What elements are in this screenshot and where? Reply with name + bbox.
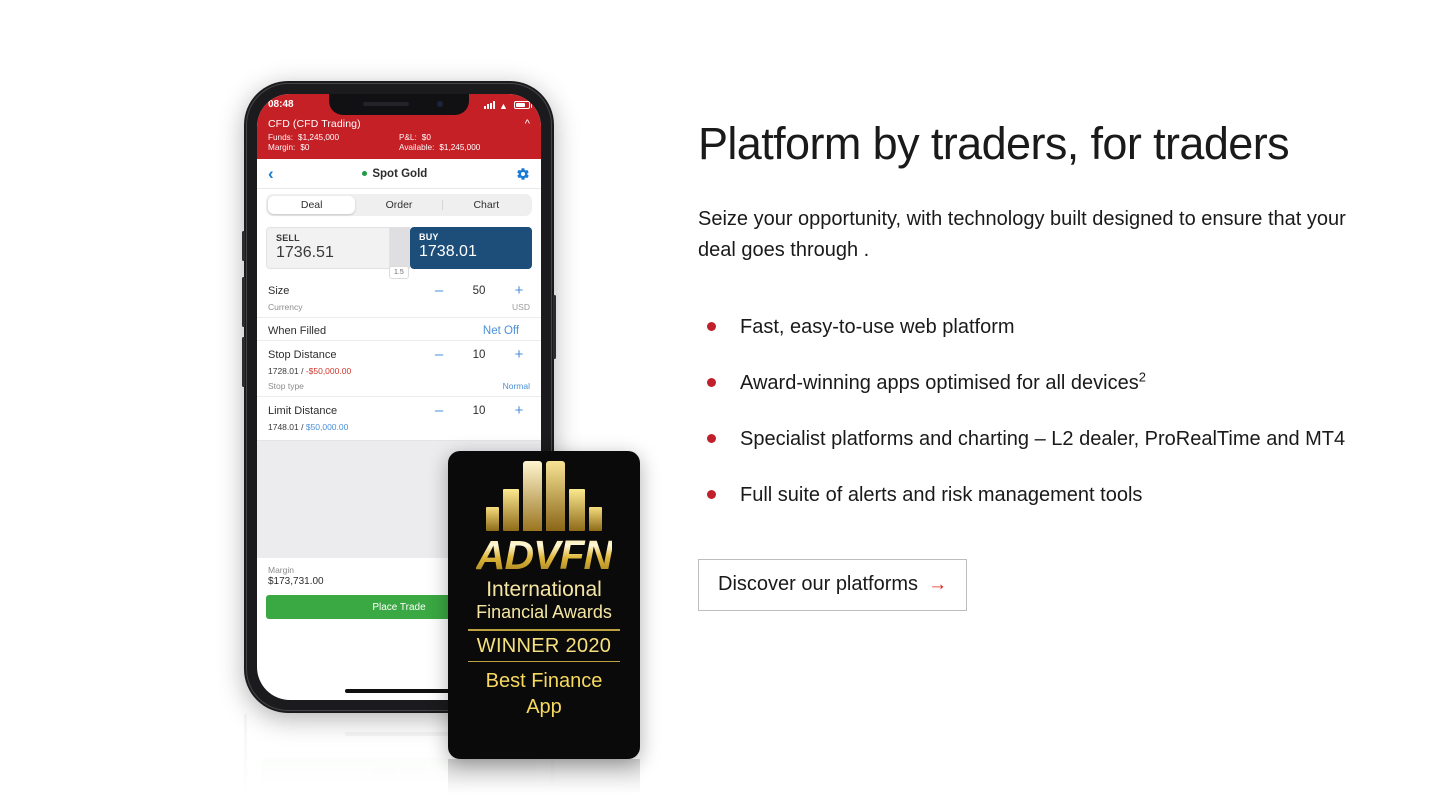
instrument-name: Spot Gold	[372, 168, 427, 180]
instrument-nav-bar: ‹ Spot Gold	[257, 159, 541, 189]
size-stepper: – 50 +	[428, 284, 530, 298]
arrow-right-icon: →	[928, 575, 947, 594]
account-header[interactable]: CFD (CFD Trading) ^ Funds: $1,245,000 P&…	[257, 115, 541, 159]
advfn-building-logo-icon	[486, 461, 602, 531]
stop-distance-decrement-button[interactable]: –	[428, 348, 450, 362]
badge-line-international: International	[486, 578, 602, 602]
stop-distance-label: Stop Distance	[268, 349, 336, 361]
limit-distance-increment-button[interactable]: +	[508, 404, 530, 418]
row-limit-distance: Limit Distance – 10 +	[257, 396, 541, 421]
list-item-text: Award-winning apps optimised for all dev…	[740, 372, 1139, 394]
stop-price-level: 1728.01 /	[268, 366, 306, 376]
limit-distance-decrement-button[interactable]: –	[428, 404, 450, 418]
pnl-value: $0	[422, 133, 431, 142]
row-currency: Currency USD	[257, 301, 541, 317]
tab-order[interactable]: Order	[355, 196, 442, 214]
page-title: Platform by traders, for traders	[698, 118, 1398, 170]
stop-distance-value[interactable]: 10	[450, 349, 508, 361]
list-item: Specialist platforms and charting – L2 d…	[698, 422, 1398, 456]
front-camera-icon	[437, 101, 443, 107]
account-margin: Margin: $0	[268, 143, 399, 152]
row-when-filled[interactable]: When Filled Net Off	[257, 317, 541, 340]
available-label: Available:	[399, 143, 434, 152]
reflection-home-indicator	[345, 732, 453, 736]
badge-divider-bottom	[468, 661, 620, 663]
buy-label: BUY	[419, 232, 523, 242]
tab-chart[interactable]: Chart	[443, 196, 530, 214]
when-filled-value[interactable]: Net Off	[472, 325, 530, 337]
phone-notch	[329, 94, 469, 115]
account-pnl: P&L: $0	[399, 133, 530, 142]
list-item-text: Specialist platforms and charting – L2 d…	[740, 428, 1345, 450]
home-indicator[interactable]	[345, 689, 453, 693]
stop-type-label: Stop type	[268, 381, 304, 391]
when-filled-label: When Filled	[268, 325, 326, 337]
account-figures: Funds: $1,245,000 P&L: $0 Margin: $0 A	[268, 133, 530, 152]
list-item: Fast, easy-to-use web platform	[698, 310, 1398, 344]
badge-category-line1: Best Finance	[486, 668, 603, 694]
feature-list: Fast, easy-to-use web platform Award-win…	[698, 310, 1398, 534]
pnl-label: P&L:	[399, 133, 417, 142]
earpiece-speaker-icon	[363, 102, 409, 106]
page-subtitle: Seize your opportunity, with technology …	[698, 204, 1388, 266]
signal-bars-icon	[484, 101, 495, 109]
status-bar-time: 08:48	[268, 99, 294, 110]
limit-distance-price: 1748.01 / $50,000.00	[257, 421, 541, 436]
discover-platforms-button[interactable]: Discover our platforms →	[698, 559, 967, 611]
bullet-dot-icon	[707, 490, 716, 499]
page-root: Place Trade $173,731.00 Margin 08:48	[0, 0, 1440, 810]
available-value: $1,245,000	[439, 143, 480, 152]
account-title: CFD (CFD Trading)	[268, 118, 361, 130]
wifi-icon	[499, 101, 510, 109]
stop-price-pnl: -$50,000.00	[306, 366, 351, 376]
funds-value: $1,245,000	[298, 133, 339, 142]
quote-panel: SELL 1736.51 BUY 1738.01 1.5	[257, 219, 541, 273]
deal-order-chart-tabs: Deal Order Chart	[257, 189, 541, 219]
bullet-dot-icon	[707, 434, 716, 443]
list-item-footnote: 2	[1139, 369, 1146, 384]
buy-button[interactable]: BUY 1738.01	[410, 227, 532, 269]
margin-value: $0	[300, 143, 309, 152]
limit-price-level: 1748.01 /	[268, 422, 306, 432]
chevron-up-icon[interactable]: ^	[525, 119, 530, 130]
row-stop-type[interactable]: Stop type Normal	[257, 380, 541, 396]
badge-line-financial-awards: Financial Awards	[476, 602, 612, 623]
badge-reflection	[448, 759, 640, 809]
badge-category-line2: App	[526, 694, 562, 720]
phone-volume-up-button[interactable]	[242, 277, 245, 327]
back-chevron-icon[interactable]: ‹	[268, 165, 274, 182]
bullet-dot-icon	[707, 322, 716, 331]
reflection-margin-value: $173,731.00	[263, 790, 319, 801]
sell-label: SELL	[276, 233, 380, 243]
size-increment-button[interactable]: +	[508, 284, 530, 298]
stop-distance-price: 1728.01 / -$50,000.00	[257, 365, 541, 380]
list-item: Full suite of alerts and risk management…	[698, 478, 1398, 512]
account-available: Available: $1,245,000	[399, 143, 530, 152]
stop-type-value[interactable]: Normal	[503, 381, 530, 391]
currency-label: Currency	[268, 302, 302, 312]
tab-deal[interactable]: Deal	[268, 196, 355, 214]
award-badge: ADVFN International Financial Awards WIN…	[448, 451, 640, 759]
phone-mockup-area: Place Trade $173,731.00 Margin 08:48	[0, 0, 690, 810]
advfn-wordmark: ADVFN	[476, 533, 612, 577]
sell-price: 1736.51	[276, 244, 380, 262]
margin-label: Margin:	[268, 143, 295, 152]
green-dot-icon	[362, 171, 367, 176]
list-item-text: Fast, easy-to-use web platform	[740, 316, 1015, 338]
phone-power-button[interactable]	[553, 295, 556, 359]
sell-button[interactable]: SELL 1736.51	[266, 227, 390, 269]
list-item-text: Full suite of alerts and risk management…	[740, 484, 1142, 506]
funds-label: Funds:	[268, 133, 293, 142]
size-decrement-button[interactable]: –	[428, 284, 450, 298]
limit-distance-stepper: – 10 +	[428, 404, 530, 418]
spread-value: 1.5	[389, 266, 409, 279]
battery-icon	[514, 101, 530, 109]
limit-distance-value[interactable]: 10	[450, 405, 508, 417]
list-item: Award-winning apps optimised for all dev…	[698, 366, 1398, 400]
content-panel: Platform by traders, for traders Seize y…	[698, 0, 1418, 810]
phone-volume-down-button[interactable]	[242, 337, 245, 387]
reflection-margin-label: Margin	[263, 804, 289, 810]
spread-column	[390, 227, 410, 269]
badge-winner-year: WINNER 2020	[477, 631, 611, 661]
instrument-title: Spot Gold	[362, 168, 427, 180]
tab-order-label: Order	[386, 199, 413, 211]
buy-price: 1738.01	[419, 243, 523, 261]
currency-value: USD	[512, 302, 530, 312]
size-label: Size	[268, 285, 289, 297]
bullet-dot-icon	[707, 378, 716, 387]
size-value[interactable]: 50	[450, 285, 508, 297]
discover-platforms-label: Discover our platforms	[718, 573, 918, 596]
stop-distance-increment-button[interactable]: +	[508, 348, 530, 362]
row-size: Size – 50 +	[257, 279, 541, 301]
limit-distance-label: Limit Distance	[268, 405, 337, 417]
stop-distance-stepper: – 10 +	[428, 348, 530, 362]
phone-mute-switch[interactable]	[242, 231, 245, 261]
limit-price-pnl: $50,000.00	[306, 422, 349, 432]
gear-icon[interactable]	[516, 167, 530, 181]
status-bar-icons	[484, 101, 530, 109]
row-stop-distance: Stop Distance – 10 +	[257, 340, 541, 365]
account-funds: Funds: $1,245,000	[268, 133, 399, 142]
